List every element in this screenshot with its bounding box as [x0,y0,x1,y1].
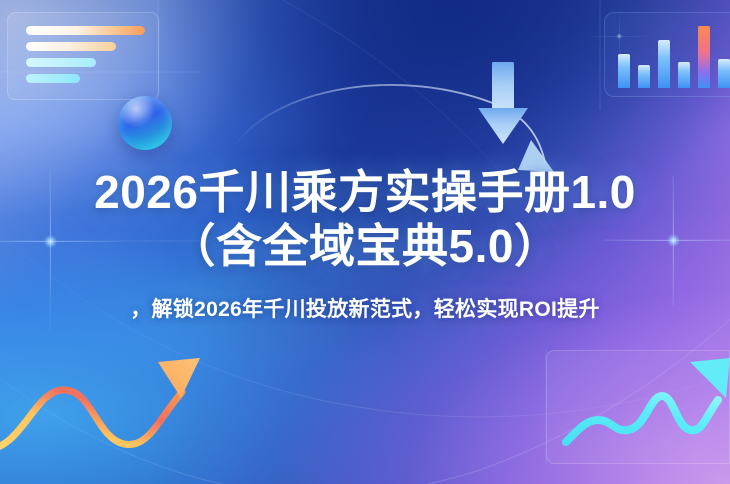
bar-chart-bar [678,62,690,88]
bar-chart-bar [658,40,670,88]
growth-arrow-card [546,350,730,464]
headline-block: 2026千川乘方实操手册1.0 （含全域宝典5.0） ，解锁2026年千川投放新… [0,168,730,323]
poster-title-line-2: （含全域宝典5.0） [14,222,716,272]
stat-bars-card [7,12,159,100]
bar-chart-bar [638,65,650,88]
stat-bar-4 [26,74,80,83]
bar-chart-bar [698,26,710,88]
poster-title-line-1: 2026千川乘方实操手册1.0 [14,168,716,218]
stat-bar-1 [26,26,145,35]
bar-chart-card [604,12,730,97]
bar-chart-bar [718,59,730,88]
stat-bar-3 [26,58,96,67]
poster-subtitle: ，解锁2026年千川投放新范式，轻松实现ROI提升 [14,293,716,323]
glossy-sphere [118,96,172,150]
bar-chart-bars [618,26,730,88]
stat-bar-2 [26,42,116,51]
bar-chart-bar [618,54,630,88]
poster-canvas: 2026千川乘方实操手册1.0 （含全域宝典5.0） ，解锁2026年千川投放新… [0,0,730,484]
